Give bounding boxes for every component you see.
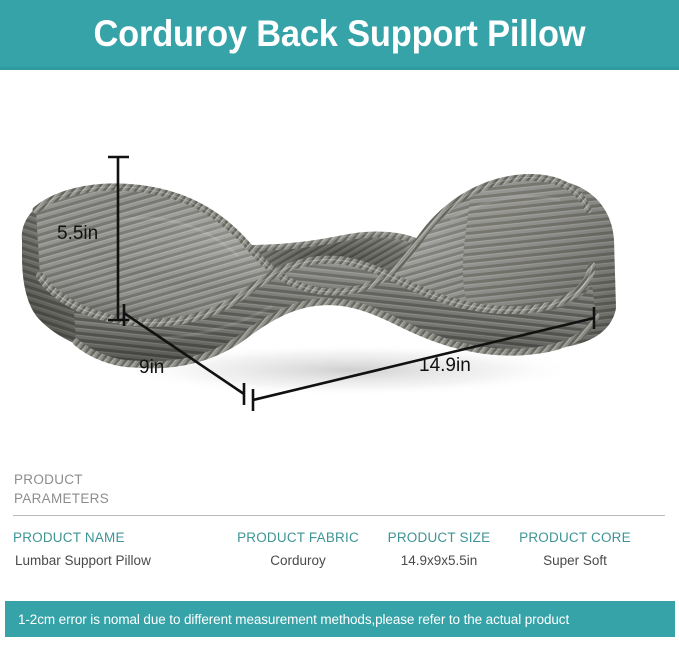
param-column-product-name: PRODUCT NAME Lumbar Support Pillow (13, 530, 203, 568)
page-title: Corduroy Back Support Pillow (94, 15, 586, 52)
product-parameters-section: PRODUCT PARAMETERS PRODUCT NAME Lumbar S… (0, 445, 679, 595)
height-dimension-label: 5.5in (57, 223, 98, 245)
param-label: PRODUCT FABRIC (237, 530, 359, 545)
param-column-product-core: PRODUCT CORE Super Soft (505, 530, 645, 568)
param-column-product-fabric: PRODUCT FABRIC Corduroy (223, 530, 373, 568)
param-column-product-size: PRODUCT SIZE 14.9x9x5.5in (373, 530, 505, 568)
depth-dimension-label: 9in (139, 357, 164, 379)
footer-note-text: 1-2cm error is nomal due to different me… (5, 612, 569, 627)
footer-note-banner: 1-2cm error is nomal due to different me… (5, 601, 675, 637)
parameters-table: PRODUCT NAME Lumbar Support Pillow PRODU… (0, 530, 679, 568)
header-banner: Corduroy Back Support Pillow (0, 0, 679, 70)
param-value: Corduroy (270, 553, 326, 568)
param-value: Lumbar Support Pillow (15, 553, 151, 568)
param-label: PRODUCT SIZE (388, 530, 491, 545)
parameters-heading-line1: PRODUCT (14, 470, 164, 489)
param-value: 14.9x9x5.5in (401, 553, 478, 568)
param-value: Super Soft (543, 553, 607, 568)
param-label: PRODUCT CORE (519, 530, 631, 545)
parameters-heading: PRODUCT PARAMETERS (14, 470, 164, 508)
length-dimension-label: 14.9in (419, 355, 471, 377)
parameters-divider (13, 515, 665, 516)
product-photo (0, 70, 679, 445)
product-image-stage (0, 70, 679, 445)
param-label: PRODUCT NAME (13, 530, 125, 545)
parameters-heading-line2: PARAMETERS (14, 489, 164, 508)
